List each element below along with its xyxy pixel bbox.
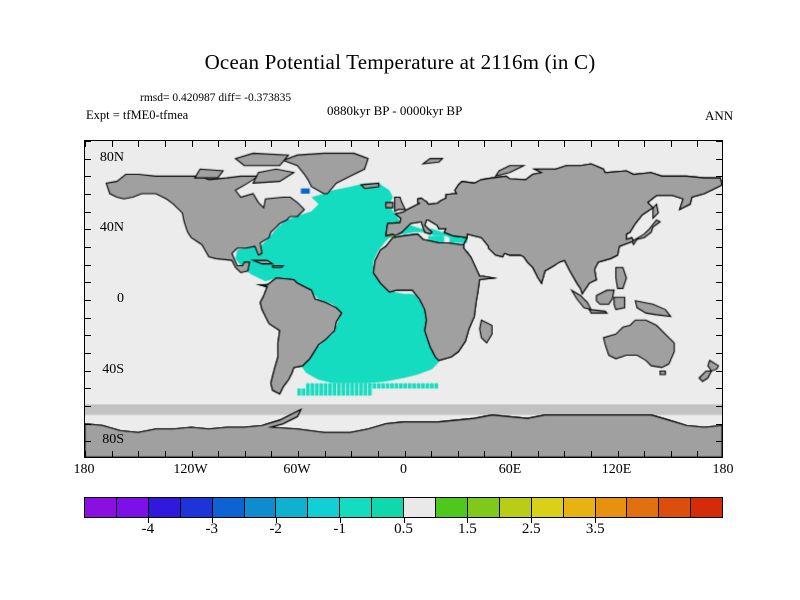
figure-canvas: Ocean Potential Temperature at 2116m (in… [0, 0, 800, 600]
colorbar-segment [659, 498, 691, 517]
axis-minor-tick [245, 451, 246, 457]
axis-minor-tick [716, 388, 722, 389]
axis-minor-tick [192, 451, 193, 457]
colorbar-tick-label: -4 [142, 521, 155, 538]
colorbar-segment [500, 498, 532, 517]
page-title: Ocean Potential Temperature at 2116m (in… [0, 50, 800, 75]
axis-minor-tick [245, 141, 246, 147]
colorbar-tick-label: 2.5 [522, 521, 541, 538]
period-label: 0880kyr BP - 0000kyr BP [327, 103, 462, 119]
axis-minor-tick [644, 451, 645, 457]
axis-minor-tick [716, 212, 722, 213]
y-axis-tick-label: 80N [78, 150, 124, 166]
axis-minor-tick [378, 141, 379, 147]
axis-minor-tick [716, 441, 722, 442]
axis-minor-tick [378, 451, 379, 457]
axis-minor-tick [218, 141, 219, 147]
axis-minor-tick [564, 451, 565, 457]
axis-minor-tick [511, 141, 512, 147]
x-axis-tick-label: 60E [499, 462, 522, 478]
axis-minor-tick [112, 141, 113, 147]
x-axis-tick-label: 0 [400, 462, 407, 478]
axis-minor-tick [138, 141, 139, 147]
axis-minor-tick [564, 141, 565, 147]
colorbar-segment [213, 498, 245, 517]
colorbar-segment [627, 498, 659, 517]
colorbar-segment [372, 498, 404, 517]
axis-minor-tick [218, 451, 219, 457]
axis-minor-tick [618, 141, 619, 147]
axis-minor-tick [85, 247, 91, 248]
colorbar-tick-label: 1.5 [458, 521, 477, 538]
axis-minor-tick [85, 176, 91, 177]
axis-minor-tick [458, 451, 459, 457]
colorbar-segment [564, 498, 596, 517]
axis-minor-tick [716, 406, 722, 407]
axis-minor-tick [716, 176, 722, 177]
x-axis-tick-label: 180 [74, 462, 95, 478]
axis-minor-tick [716, 265, 722, 266]
colorbar-segment [532, 498, 564, 517]
rmsd-statistics-text: rmsd= 0.420987 diff= -0.373835 [140, 92, 291, 104]
axis-minor-tick [351, 141, 352, 147]
colorbar-tick-label: -1 [333, 521, 346, 538]
y-axis-tick-label: 40S [78, 362, 124, 378]
axis-minor-tick [165, 451, 166, 457]
axis-minor-tick [591, 451, 592, 457]
experiment-label: Expt = tfME0-tfmea [86, 108, 188, 123]
colorbar-segment [85, 498, 117, 517]
axis-minor-tick [716, 424, 722, 425]
axis-minor-tick [697, 451, 698, 457]
axis-minor-tick [511, 451, 512, 457]
axis-minor-tick [325, 451, 326, 457]
map-plot-area [84, 140, 723, 458]
axis-minor-tick [644, 141, 645, 147]
axis-minor-tick [716, 159, 722, 160]
world-ocean-temperature-map [85, 141, 722, 457]
colorbar-segment [691, 498, 722, 517]
x-axis-tick-label: 180 [713, 462, 734, 478]
axis-minor-tick [138, 451, 139, 457]
colorbar-segment [468, 498, 500, 517]
axis-minor-tick [484, 451, 485, 457]
colorbar-tick-label: -2 [269, 521, 282, 538]
axis-minor-tick [716, 194, 722, 195]
axis-minor-tick [618, 451, 619, 457]
axis-minor-tick [431, 451, 432, 457]
axis-minor-tick [165, 141, 166, 147]
axis-minor-tick [716, 300, 722, 301]
axis-minor-tick [271, 141, 272, 147]
axis-minor-tick [716, 282, 722, 283]
axis-minor-tick [85, 212, 91, 213]
axis-minor-tick [405, 451, 406, 457]
axis-minor-tick [192, 141, 193, 147]
axis-minor-tick [85, 318, 91, 319]
axis-minor-tick [716, 353, 722, 354]
axis-minor-tick [716, 247, 722, 248]
colorbar-segment [149, 498, 181, 517]
axis-minor-tick [458, 141, 459, 147]
colorbar-segment [596, 498, 628, 517]
axis-minor-tick [271, 451, 272, 457]
axis-minor-tick [85, 451, 86, 457]
colorbar-segment [117, 498, 149, 517]
axis-minor-tick [484, 141, 485, 147]
y-axis-tick-label: 40N [78, 220, 124, 236]
colorbar-segment [308, 498, 340, 517]
colorbar-segment [404, 498, 436, 517]
axis-minor-tick [538, 141, 539, 147]
axis-minor-tick [538, 451, 539, 457]
colorbar-segment [181, 498, 213, 517]
axis-minor-tick [298, 451, 299, 457]
x-axis-tick-label: 120E [602, 462, 632, 478]
colorbar-tick-label: -3 [206, 521, 219, 538]
axis-minor-tick [697, 141, 698, 147]
axis-minor-tick [85, 406, 91, 407]
y-axis-tick-label: 0 [78, 291, 124, 307]
axis-minor-tick [85, 282, 91, 283]
axis-minor-tick [112, 451, 113, 457]
axis-minor-tick [85, 194, 91, 195]
season-label: ANN [705, 108, 733, 124]
axis-minor-tick [85, 353, 91, 354]
axis-minor-tick [325, 141, 326, 147]
colorbar-segment [245, 498, 277, 517]
axis-minor-tick [591, 141, 592, 147]
axis-minor-tick [716, 335, 722, 336]
axis-minor-tick [351, 451, 352, 457]
axis-minor-tick [405, 141, 406, 147]
colorbar-segment [276, 498, 308, 517]
axis-minor-tick [85, 424, 91, 425]
colorbar-tick-label: 3.5 [586, 521, 605, 538]
axis-minor-tick [716, 318, 722, 319]
axis-minor-tick [716, 371, 722, 372]
x-axis-tick-label: 60W [283, 462, 310, 478]
colorbar-tick-label: 0.5 [394, 521, 413, 538]
axis-minor-tick [431, 141, 432, 147]
axis-minor-tick [85, 335, 91, 336]
colorbar-segment [436, 498, 468, 517]
axis-minor-tick [671, 451, 672, 457]
axis-minor-tick [85, 388, 91, 389]
axis-minor-tick [716, 229, 722, 230]
axis-minor-tick [85, 141, 91, 142]
colorbar-segment [340, 498, 372, 517]
axis-minor-tick [671, 141, 672, 147]
axis-minor-tick [716, 141, 722, 142]
axis-minor-tick [85, 265, 91, 266]
x-axis-tick-label: 120W [173, 462, 207, 478]
colorbar [84, 497, 723, 518]
y-axis-tick-label: 80S [78, 432, 124, 448]
axis-minor-tick [298, 141, 299, 147]
